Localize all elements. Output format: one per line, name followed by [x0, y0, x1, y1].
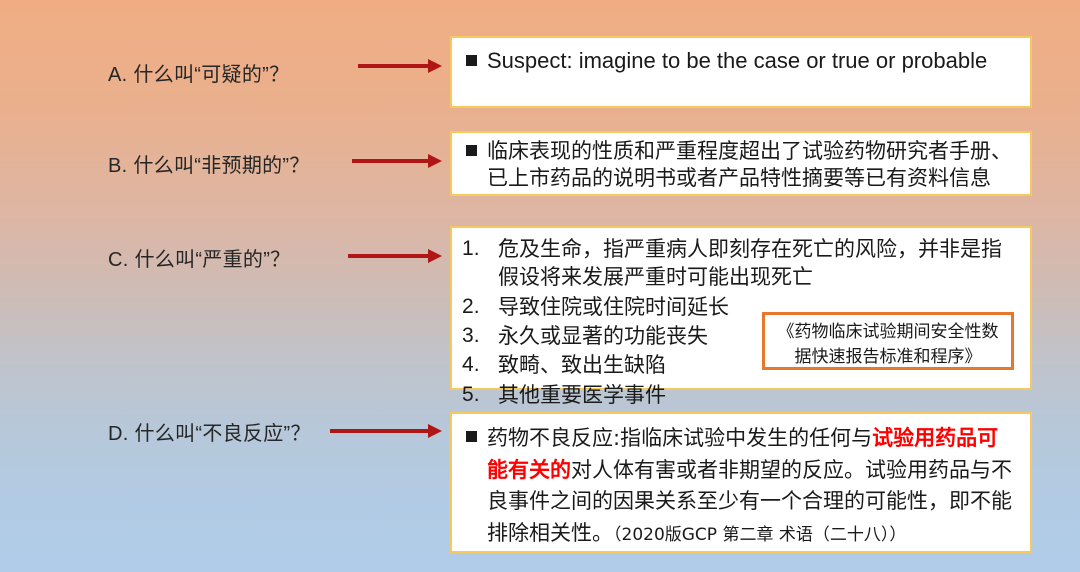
- answer-card-a: Suspect: imagine to be the case or true …: [450, 36, 1032, 108]
- arrow-head: [428, 154, 442, 168]
- square-bullet-icon: [466, 55, 477, 66]
- arrow-shaft: [348, 254, 430, 258]
- answer-text-b: 临床表现的性质和严重程度超出了试验药物研究者手册、已上市药品的说明书或者产品特性…: [487, 138, 1022, 193]
- arrow-shaft: [330, 429, 430, 433]
- arrow-head: [428, 59, 442, 73]
- answer-text-a: Suspect: imagine to be the case or true …: [487, 46, 1020, 76]
- question-label-b: B. 什么叫“非预期的”？: [108, 149, 310, 178]
- arrow-shaft: [358, 64, 430, 68]
- list-item: 其他重要医学事件: [460, 381, 1020, 409]
- answer-card-d: 药物不良反应:指临床试验中发生的任何与试验用药品可能有关的对人体有害或者非期望的…: [450, 412, 1032, 553]
- answer-card-a-inner: Suspect: imagine to be the case or true …: [452, 38, 1030, 84]
- question-label-c: C. 什么叫“严重的”？: [108, 243, 290, 272]
- arrow-right-icon-b: [352, 152, 444, 170]
- bullet-row-a: Suspect: imagine to be the case or true …: [464, 46, 1020, 76]
- answer-card-d-inner: 药物不良反应:指临床试验中发生的任何与试验用药品可能有关的对人体有害或者非期望的…: [452, 414, 1030, 557]
- arrow-head: [428, 249, 442, 263]
- list-item: 危及生命，指严重病人即刻存在死亡的风险，并非是指假设将来发展严重时可能出现死亡: [460, 235, 1020, 292]
- question-label-a: A. 什么叫“可疑的”？: [108, 58, 289, 87]
- answer-text-d: 药物不良反应:指临床试验中发生的任何与试验用药品可能有关的对人体有害或者非期望的…: [487, 423, 1018, 549]
- answer-text-d-lead: 药物不良反应:指临床试验中发生的任何与: [487, 426, 872, 450]
- answer-card-b: 临床表现的性质和严重程度超出了试验药物研究者手册、已上市药品的说明书或者产品特性…: [450, 131, 1032, 196]
- answer-card-b-inner: 临床表现的性质和严重程度超出了试验药物研究者手册、已上市药品的说明书或者产品特性…: [452, 133, 1030, 198]
- slide-canvas: A. 什么叫“可疑的”？ Suspect: imagine to be the …: [0, 0, 1080, 572]
- arrow-right-icon-c: [348, 247, 444, 265]
- answer-text-d-reference: （2020版GCP 第二章 术语（二十八））: [613, 525, 906, 545]
- bullet-row-b: 临床表现的性质和严重程度超出了试验药物研究者手册、已上市药品的说明书或者产品特性…: [464, 138, 1022, 193]
- square-bullet-icon: [466, 431, 477, 442]
- square-bullet-icon: [466, 145, 477, 156]
- arrow-shaft: [352, 159, 430, 163]
- question-label-d: D. 什么叫“不良反应”？: [108, 417, 311, 446]
- bullet-row-d: 药物不良反应:指临床试验中发生的任何与试验用药品可能有关的对人体有害或者非期望的…: [464, 423, 1018, 549]
- arrow-right-icon-d: [330, 422, 444, 440]
- arrow-right-icon-a: [358, 57, 444, 75]
- answer-card-c: 危及生命，指严重病人即刻存在死亡的风险，并非是指假设将来发展严重时可能出现死亡 …: [450, 226, 1032, 390]
- reference-callout-c: 《药物临床试验期间安全性数据快速报告标准和程序》: [762, 312, 1014, 370]
- arrow-head: [428, 424, 442, 438]
